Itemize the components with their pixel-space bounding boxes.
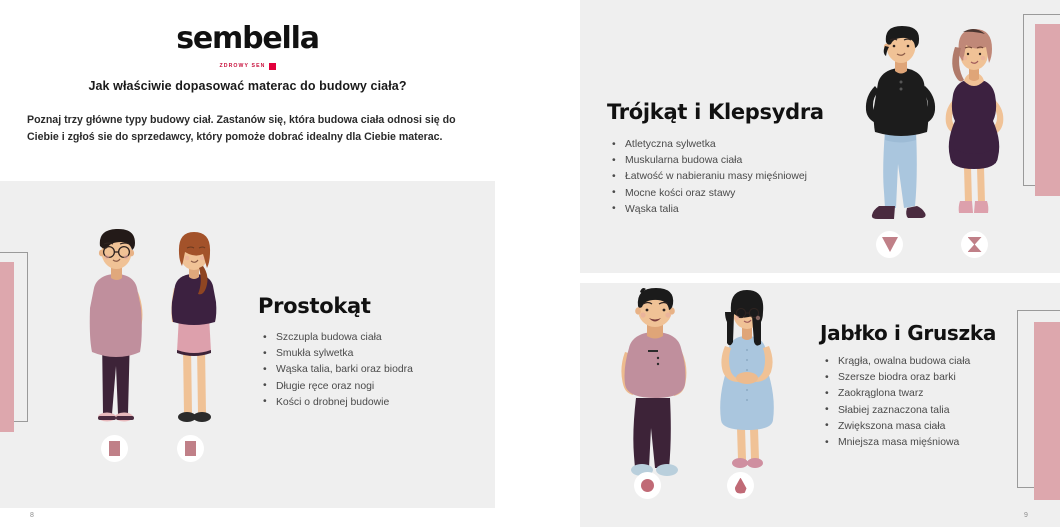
decorative-plate-bottom-right [1017,310,1060,494]
list-item: Słabiej zaznaczona talia [824,403,970,419]
figure-slim-man-glasses [78,226,154,426]
list-item: Łatwość w nabieraniu masy mięśniowej [611,169,807,185]
page-number-left: 8 [30,512,34,519]
brand-accent-square [269,63,276,70]
rectangle-shape-icon [109,441,120,456]
list-item: Mocne kości oraz stawy [611,186,807,202]
section-title-trojkat-klepsydra: Trójkąt i Klepsydra [607,100,824,124]
brand-wordmark: sembella [0,24,495,54]
list-item: Zwiększona masa ciała [824,419,970,435]
page-subtitle: Poznaj trzy główne typy budowy ciał. Zas… [27,112,487,146]
decorative-plate-left [0,252,32,428]
hourglass-shape-icon [968,237,982,252]
list-item: Szersze biodra oraz barki [824,370,970,386]
figure-hourglass-woman-purple-dress [930,27,1016,223]
brand-tagline-text: ZDROWY SEN [219,63,265,69]
list-item: Smukła sylwetka [262,346,413,362]
list-item: Kości o drobnej budowie [262,395,413,411]
badge-klepsydra [961,231,988,258]
triangle-shape-icon [882,237,898,252]
list-item: Mniejsza masa mięśniowa [824,435,970,451]
list-item: Atletyczna sylwetka [611,137,807,153]
page-title: Jak właściwie dopasować materac do budow… [0,79,495,93]
slide-page-9: Trójkąt i Klepsydra Atletyczna sylwetka … [580,0,1060,527]
slide-page-8: sembella ZDROWY SEN Jak właściwie dopaso… [0,0,495,527]
rectangle-shape-icon [185,441,196,456]
apple-shape-icon [641,479,654,492]
decorative-plate-top-right [1023,14,1060,192]
figure-round-man-pink-shirt [612,288,698,480]
page-number-right: 9 [1024,512,1028,519]
pear-shape-icon [735,478,747,494]
list-item: Wąska talia, barki oraz biodra [262,362,413,378]
presentation-canvas: sembella ZDROWY SEN Jak właściwie dopaso… [0,0,1060,527]
badge-prostokat-1 [101,435,128,462]
list-item: Krągła, owalna budowa ciała [824,354,970,370]
badge-jablko [634,472,661,499]
plate-fill [1034,322,1060,500]
plate-fill [0,262,14,432]
list-item: Zaokrąglona twarz [824,386,970,402]
plate-fill [1035,24,1060,196]
figure-slim-woman-ponytail [162,230,226,426]
badge-gruszka [727,472,754,499]
badge-trojkat [876,231,903,258]
list-item: Długie ręce oraz nogi [262,379,413,395]
section-background-prostokat [0,181,495,508]
figure-pear-woman-blue-dress [707,288,787,480]
section-bullets-prostokat: Szczupla budowa ciała Smukła sylwetka Wą… [262,330,413,411]
brand-tagline: ZDROWY SEN [219,63,275,70]
section-title-prostokat: Prostokąt [258,294,371,318]
list-item: Szczupla budowa ciała [262,330,413,346]
badge-prostokat-2 [177,435,204,462]
section-bullets-jablko-gruszka: Krągła, owalna budowa ciała Szersze biod… [824,354,970,451]
list-item: Wąska talia [611,202,807,218]
section-title-jablko-gruszka: Jabłko i Gruszka [820,321,996,345]
brand-logo: sembella ZDROWY SEN [0,24,495,72]
list-item: Muskularna budowa ciała [611,153,807,169]
section-bullets-trojkat-klepsydra: Atletyczna sylwetka Muskularna budowa ci… [611,137,807,218]
